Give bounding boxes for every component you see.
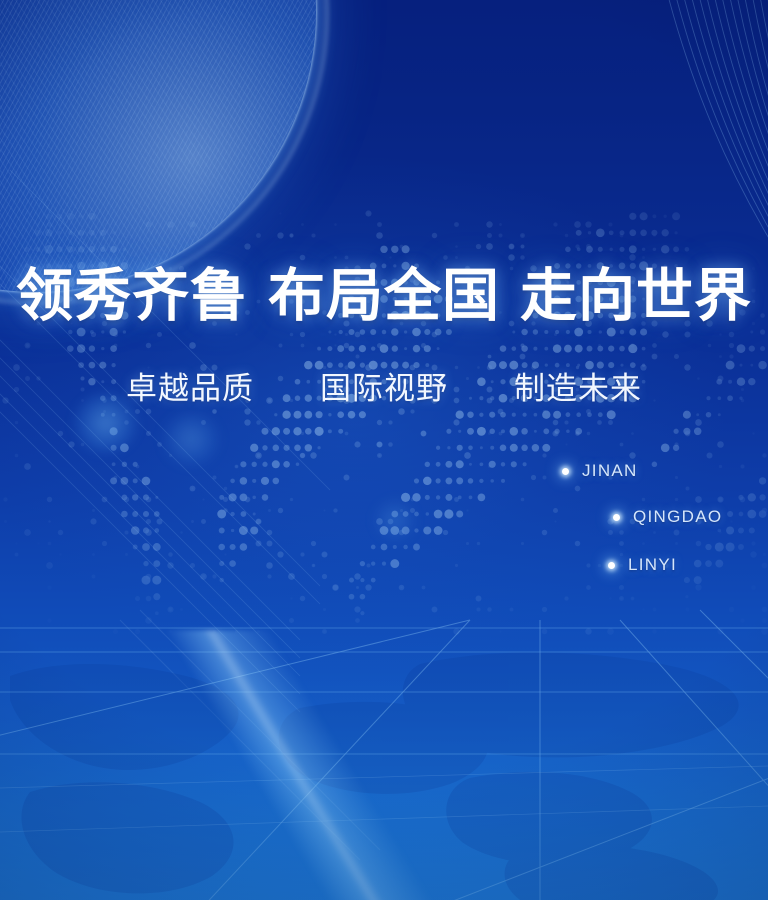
subtitle-segment: 卓越品质 <box>126 371 254 406</box>
page-subtitle: 卓越品质国际视野制造未来 <box>0 370 768 408</box>
city-marker-qingdao[interactable]: QINGDAO <box>613 507 722 527</box>
city-label: QINGDAO <box>633 507 722 527</box>
location-dot-icon <box>613 514 620 521</box>
subtitle-segment: 国际视野 <box>320 371 448 406</box>
headline-segment: 领秀齐鲁 <box>16 265 248 328</box>
subtitle-segment: 制造未来 <box>514 371 642 406</box>
horizon-haze <box>0 650 768 900</box>
ground-horizon <box>0 580 768 900</box>
city-marker-linyi[interactable]: LINYI <box>608 555 677 575</box>
location-dot-icon <box>608 562 615 569</box>
hero-banner: 领秀齐鲁布局全国走向世界 卓越品质国际视野制造未来 JINAN QINGDAO … <box>0 0 768 900</box>
city-label: JINAN <box>582 461 638 481</box>
city-label: LINYI <box>628 555 677 575</box>
location-dot-icon <box>562 468 569 475</box>
city-marker-jinan[interactable]: JINAN <box>562 461 638 481</box>
headline-segment: 走向世界 <box>520 265 752 328</box>
page-title: 领秀齐鲁布局全国走向世界 <box>0 266 768 328</box>
headline-segment: 布局全国 <box>268 265 500 328</box>
